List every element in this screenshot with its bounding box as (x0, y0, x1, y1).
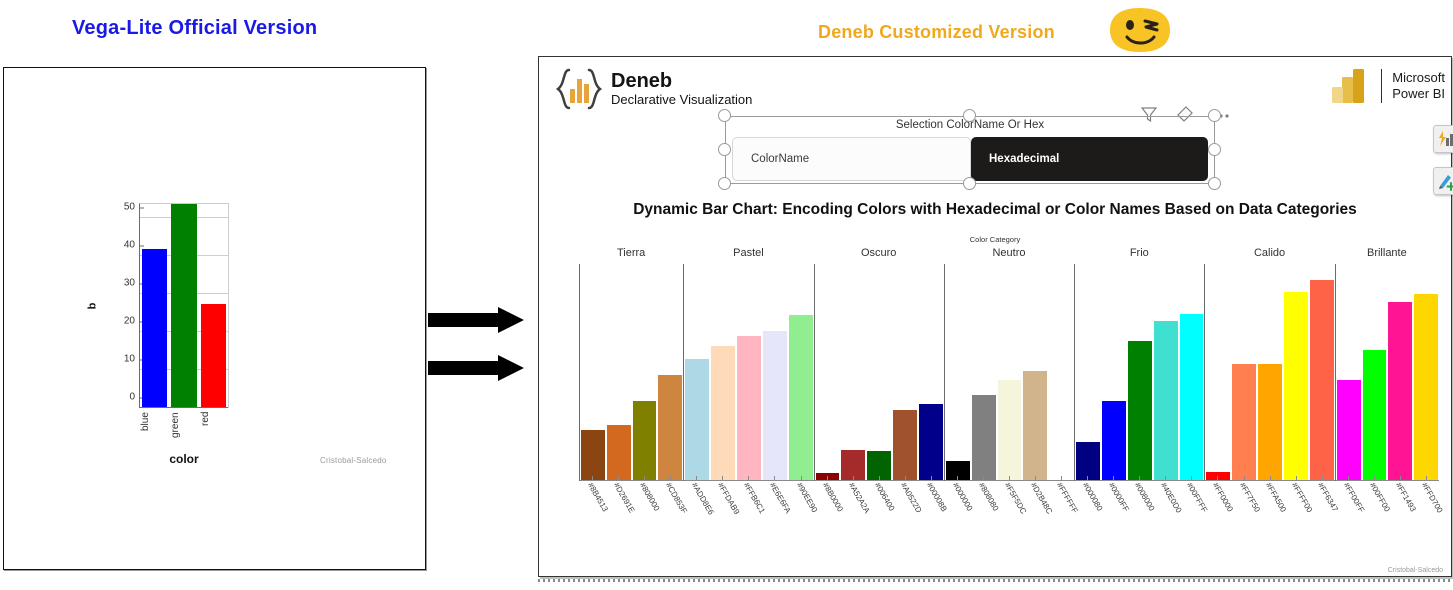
bar-#00FFFF[interactable] (1180, 314, 1204, 480)
facet-title: Color Category (539, 235, 1451, 244)
deneb-subtitle: Declarative Visualization (611, 93, 752, 108)
facet-plot (1074, 264, 1204, 481)
bar-#ADD8E6[interactable] (685, 359, 709, 481)
x-label-cell: #00FF00 (1361, 481, 1387, 507)
y-tick-0: 0 (129, 392, 140, 403)
x-label-cell: #CD853F (657, 481, 683, 507)
facet-label-frio: Frio (1074, 247, 1204, 263)
facet-plot (1204, 264, 1334, 481)
x-label-cell: #FFFF00 (1283, 481, 1309, 507)
x-label-cell: #8B0000 (814, 481, 840, 507)
edit-format-icon (1437, 171, 1453, 191)
y-tick-10: 10 (124, 354, 140, 365)
x-label-cell: #FFA500 (1257, 481, 1283, 507)
bar-#D2691E[interactable] (607, 425, 631, 480)
x-label-cell: #FFD700 (1413, 481, 1439, 507)
x-label-cell: #ADD8E6 (683, 481, 709, 507)
x-label-cell: #006400 (866, 481, 892, 507)
bar-#00008B[interactable] (919, 404, 943, 480)
powerbi-report-panel: Deneb Declarative Visualization Microsof… (538, 56, 1452, 577)
bar-#808080[interactable] (972, 395, 996, 480)
bar-#FFFF00[interactable] (1284, 292, 1308, 480)
color-mode-slicer[interactable]: Selection ColorName Or Hex ColorName Hex… (725, 116, 1215, 184)
vega-lite-panel: b 0 10 20 30 40 50 bluegreenred color Cr… (3, 67, 426, 570)
x-tick-green: green (170, 412, 200, 448)
x-label-cell: #808080 (970, 481, 996, 507)
bar-#FF7F50[interactable] (1232, 364, 1256, 480)
watermark: Cristobal-Salcedo (1388, 567, 1443, 574)
y-tick-30: 30 (124, 278, 140, 289)
bar-#FFB6C1[interactable] (737, 336, 761, 480)
bar-blue (142, 249, 167, 408)
resize-handle-bl[interactable] (718, 177, 731, 190)
bar-#808000[interactable] (633, 401, 657, 480)
powerbi-brand-icon (1327, 65, 1371, 107)
vega-lite-chart: b 0 10 20 30 40 50 bluegreenred color (139, 203, 229, 408)
resize-handle-br[interactable] (1208, 177, 1221, 190)
facet-plot (814, 264, 944, 481)
bar-#FF00FF[interactable] (1337, 380, 1361, 480)
facet-plot (1335, 264, 1439, 481)
chart-title: Dynamic Bar Chart: Encoding Colors with … (539, 201, 1451, 219)
x-label-cell: #808000 (631, 481, 657, 507)
facet-label-neutro: Neutro (944, 247, 1074, 263)
bar-#0000FF[interactable] (1102, 401, 1126, 480)
x-label-cell: #A0522D (892, 481, 918, 507)
x-tick-label-FFD700: #FFD700 (1420, 481, 1444, 514)
x-label-cell: #FF1493 (1387, 481, 1413, 507)
y-tick-40: 40 (124, 240, 140, 251)
x-label-cell: #D2691E (605, 481, 631, 507)
slicer-option-hexadecimal[interactable]: Hexadecimal (971, 137, 1208, 181)
x-label-cell: #FFFFFF (1048, 481, 1074, 507)
deneb-title: Deneb (611, 71, 752, 92)
resize-handle-ml[interactable] (718, 143, 731, 156)
facet-neutro: Neutro#000000#808080#F5F5DC#D2B48C#FFFFF… (944, 247, 1074, 507)
bar-#8B4513[interactable] (581, 430, 605, 480)
facet-pastel: Pastel#ADD8E6#FFDAB9#FFB6C1#E6E6FA#90EE9… (683, 247, 813, 507)
bar-#40E0D0[interactable] (1154, 321, 1178, 480)
x-tick-red: red (200, 412, 230, 448)
facet-label-pastel: Pastel (683, 247, 813, 263)
arrow-bottom (428, 355, 524, 381)
x-label-cell: #90EE90 (788, 481, 814, 507)
facet-label-calido: Calido (1204, 247, 1334, 263)
bar-#E6E6FA[interactable] (763, 331, 787, 480)
facet-calido: Calido#FF0000#FF7F50#FFA500#FFFF00#FF634… (1204, 247, 1334, 507)
bar-#FF6347[interactable] (1310, 280, 1334, 480)
deneb-logo: Deneb Declarative Visualization (553, 67, 752, 111)
x-label-cell: #F5F5DC (996, 481, 1022, 507)
x-label-cell: #FF00FF (1335, 481, 1361, 507)
faceted-bar-chart: Tierra#8B4513#D2691E#808000#CD853FPastel… (579, 247, 1439, 507)
resize-handle-tr[interactable] (1208, 109, 1221, 122)
facet-oscuro: Oscuro#8B0000#A52A2A#006400#A0522D#00008… (814, 247, 944, 507)
x-label-cell: #00008B (918, 481, 944, 507)
facet-label-brillante: Brillante (1335, 247, 1439, 263)
bar-#FFA500[interactable] (1258, 364, 1282, 480)
x-label-cell: #D2B48C (1022, 481, 1048, 507)
focus-chart-button[interactable] (1433, 125, 1453, 153)
bar-#000080[interactable] (1076, 442, 1100, 480)
x-label-cell: #0000FF (1100, 481, 1126, 507)
facet-label-tierra: Tierra (579, 247, 683, 263)
x-label-cell: #FFB6C1 (735, 481, 761, 507)
bar-green (171, 204, 196, 408)
bar-#90EE90[interactable] (789, 315, 813, 480)
resize-handle-mr[interactable] (1208, 143, 1221, 156)
bar-#008000[interactable] (1128, 341, 1152, 480)
bar-#F5F5DC[interactable] (998, 380, 1022, 480)
x-label-cell: #8B4513 (579, 481, 605, 507)
arrow-top (428, 307, 524, 333)
x-label-cell: #008000 (1126, 481, 1152, 507)
bar-#FFD700[interactable] (1414, 294, 1438, 480)
bar-series (140, 204, 228, 408)
x-label-cell: #A52A2A (840, 481, 866, 507)
powerbi-name-line1: Microsoft (1392, 70, 1445, 86)
deneb-brand-icon (553, 67, 605, 111)
y-axis-label: b (86, 302, 98, 309)
winking-face-emoji (1105, 6, 1175, 54)
x-label-cell: #FFDAB9 (709, 481, 735, 507)
y-tick-50: 50 (124, 202, 140, 213)
panel-bottom-border (538, 579, 1452, 582)
powerbi-name-line2: Power BI (1392, 86, 1445, 102)
facet-frio: Frio#000080#0000FF#008000#40E0D0#00FFFF (1074, 247, 1204, 507)
slicer-option-colorname[interactable]: ColorName (732, 137, 971, 181)
bar-#FF1493[interactable] (1388, 302, 1412, 480)
edit-format-button[interactable] (1433, 167, 1453, 195)
page-title-left: Vega-Lite Official Version (72, 17, 317, 40)
bar-red (201, 304, 226, 408)
slicer-tiles: ColorName Hexadecimal (732, 137, 1208, 181)
facet-plot (944, 264, 1074, 481)
x-label-cell: #FF0000 (1204, 481, 1230, 507)
x-label-cell: #000000 (944, 481, 970, 507)
facet-label-oscuro: Oscuro (814, 247, 944, 263)
facet-plot (683, 264, 813, 481)
x-axis-label: color (140, 452, 228, 466)
x-label-cell: #40E0D0 (1152, 481, 1178, 507)
x-tick-labels: bluegreenred (140, 408, 228, 448)
page-title-right: Deneb Customized Version (818, 22, 1055, 43)
x-label-cell: #E6E6FA (761, 481, 787, 507)
resize-handle-tl[interactable] (718, 109, 731, 122)
resize-handle-bc[interactable] (963, 177, 976, 190)
y-tick-20: 20 (124, 316, 140, 327)
plot-area: 0 10 20 30 40 50 bluegreenred color (139, 203, 229, 408)
bar-#00FF00[interactable] (1363, 350, 1387, 480)
facet-tierra: Tierra#8B4513#D2691E#808000#CD853F (579, 247, 683, 507)
bar-#D2B48C[interactable] (1023, 371, 1047, 480)
x-label-cell: #FF6347 (1309, 481, 1335, 507)
facet-brillante: Brillante#FF00FF#00FF00#FF1493#FFD700 (1335, 247, 1439, 507)
x-tick-blue: blue (140, 412, 170, 448)
bar-#A0522D[interactable] (893, 410, 917, 480)
x-label-cell: #FF7F50 (1231, 481, 1257, 507)
bar-#FFDAB9[interactable] (711, 346, 735, 480)
watermark: Cristobal-Salcedo (320, 456, 387, 465)
resize-handle-tc[interactable] (963, 109, 976, 122)
x-label-cell: #000080 (1074, 481, 1100, 507)
focus-chart-icon (1437, 129, 1453, 149)
bar-#CD853F[interactable] (658, 375, 682, 480)
x-label-cell: #00FFFF (1178, 481, 1204, 507)
facet-plot (579, 264, 683, 481)
powerbi-logo: Microsoft Power BI (1327, 65, 1445, 107)
